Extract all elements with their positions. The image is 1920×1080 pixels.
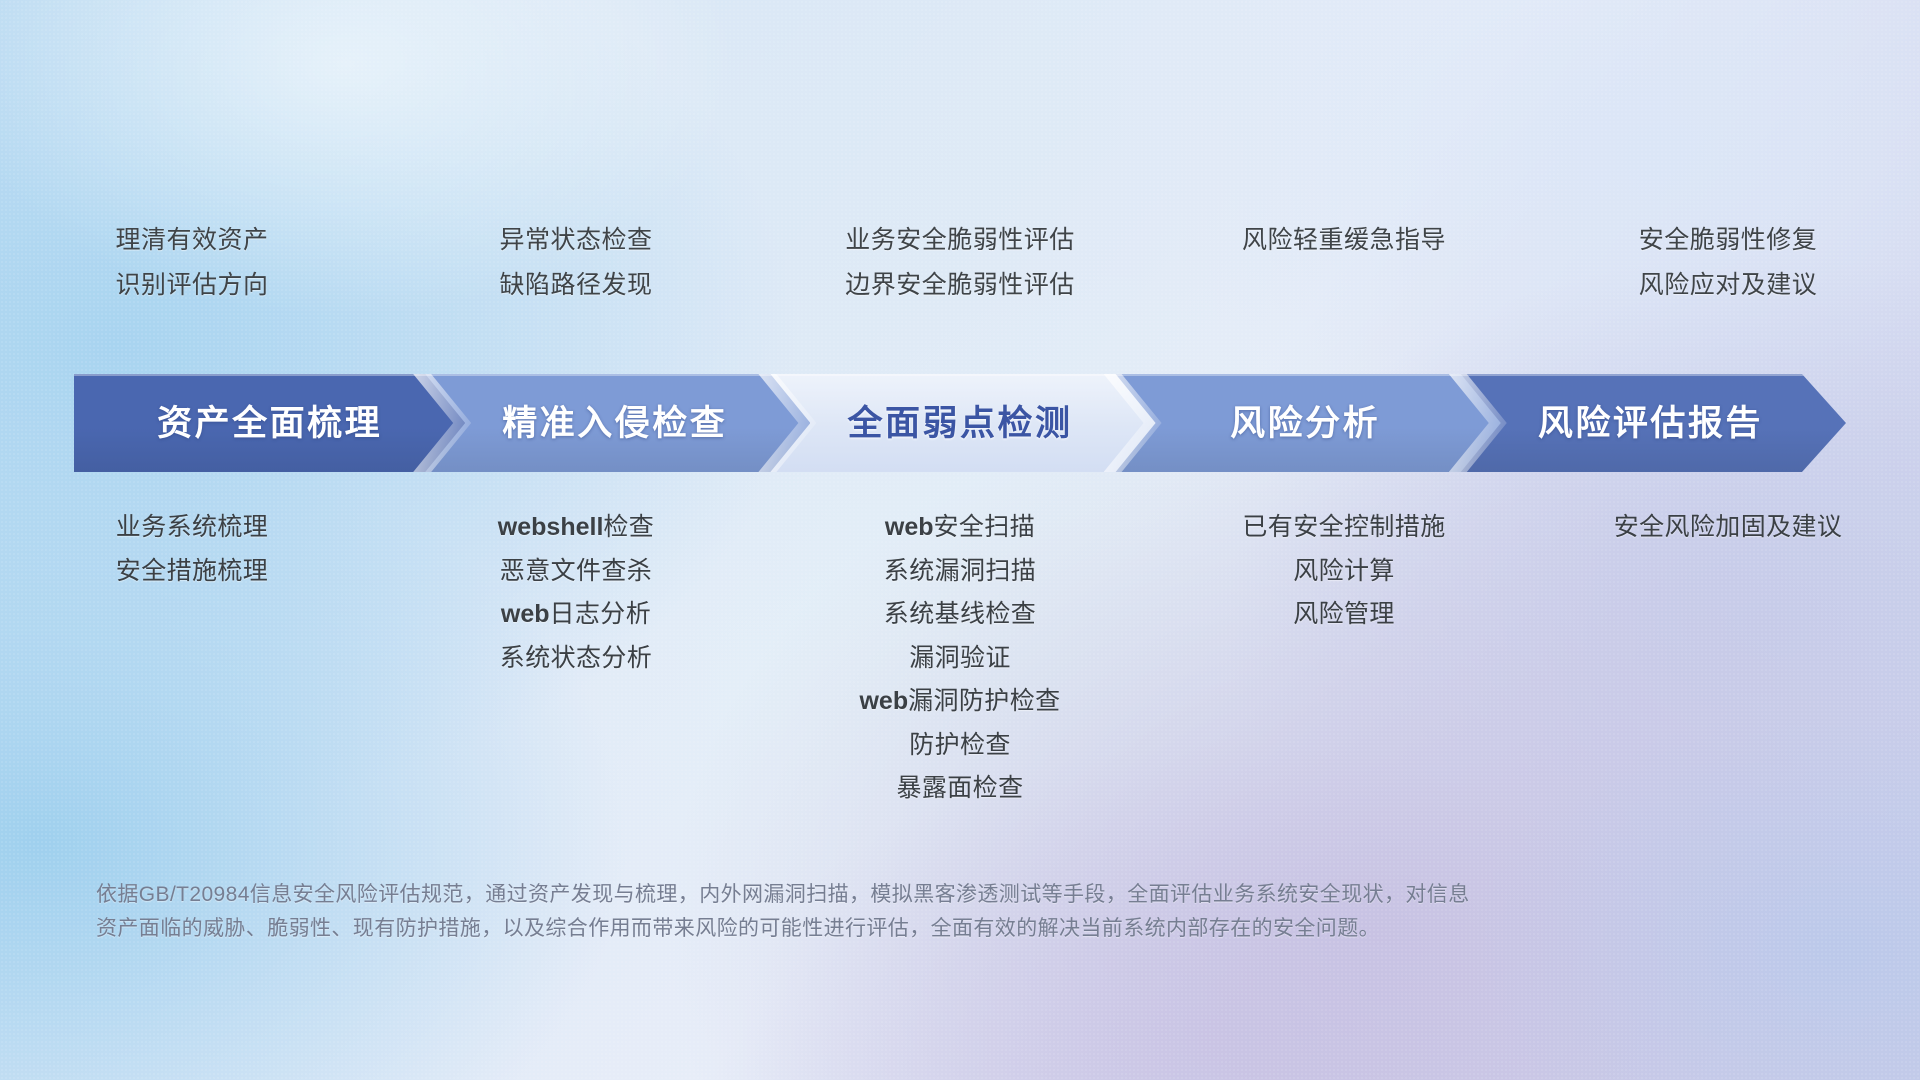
top-note-column-risk-report: 安全脆弱性修复风险应对及建议: [1536, 228, 1920, 298]
top-note: 异常状态检查: [499, 228, 652, 253]
bottom-note-text: 安全扫描: [934, 513, 1036, 541]
bottom-note: web日志分析: [501, 601, 651, 629]
bottom-note: 系统漏洞扫描: [884, 558, 1036, 586]
top-note: 缺陷路径发现: [499, 273, 652, 298]
top-note-column-risk-analysis: 风险轻重缓急指导: [1152, 228, 1536, 298]
bottom-note-latin: web: [885, 513, 934, 541]
bottom-note: 风险计算: [1293, 558, 1395, 586]
bottom-note-text: 风险管理: [1293, 600, 1395, 628]
top-note: 安全脆弱性修复: [1639, 228, 1818, 253]
top-note-column-intrusion-check: 异常状态检查缺陷路径发现: [384, 228, 768, 298]
chevron-label: 风险分析: [1230, 406, 1380, 441]
bottom-note: 防护检查: [909, 732, 1011, 760]
bottom-note-text: 检查: [603, 513, 654, 541]
bottom-note-text: 漏洞防护检查: [908, 687, 1060, 715]
bottom-note-column-weakness-detection: web安全扫描系统漏洞扫描系统基线检查漏洞验证web漏洞防护检查防护检查暴露面检…: [768, 514, 1152, 803]
bottom-note: 已有安全控制措施: [1242, 514, 1445, 542]
bottom-note-column-asset-inventory: 业务系统梳理安全措施梳理: [0, 514, 384, 585]
chevron-intrusion-check[interactable]: 精准入侵检查: [419, 374, 810, 472]
bottom-note-text: 日志分析: [550, 600, 652, 628]
bottom-note: web漏洞防护检查: [859, 688, 1060, 716]
bottom-note: 恶意文件查杀: [500, 558, 652, 586]
bottom-note-text: 系统状态分析: [500, 644, 652, 672]
bottom-note-text: 暴露面检查: [896, 774, 1023, 802]
bottom-note-column-risk-analysis: 已有安全控制措施风险计算风险管理: [1152, 514, 1536, 629]
footer-description: 依据GB/T20984信息安全风险评估规范，通过资产发现与梳理，内外网漏洞扫描，…: [96, 878, 1636, 946]
process-chevron-band: 资产全面梳理精准入侵检查全面弱点检测风险分析风险评估报告: [74, 374, 1846, 472]
chevron-asset-inventory[interactable]: 资产全面梳理: [74, 374, 465, 472]
bottom-note: 安全风险加固及建议: [1614, 514, 1843, 542]
top-note: 业务安全脆弱性评估: [845, 228, 1075, 253]
bottom-note-latin: web: [859, 687, 908, 715]
diagram-stage: 理清有效资产识别评估方向异常状态检查缺陷路径发现业务安全脆弱性评估边界安全脆弱性…: [0, 0, 1920, 1080]
chevron-label: 精准入侵检查: [502, 406, 727, 441]
bottom-note: 暴露面检查: [896, 775, 1023, 803]
chevron-label: 全面弱点检测: [847, 406, 1072, 441]
bottom-note-text: 已有安全控制措施: [1242, 513, 1445, 541]
footer-line-1: 依据GB/T20984信息安全风险评估规范，通过资产发现与梳理，内外网漏洞扫描，…: [96, 878, 1636, 912]
top-note: 理清有效资产: [115, 228, 268, 253]
bottom-note: web安全扫描: [885, 514, 1035, 542]
top-note: 边界安全脆弱性评估: [845, 273, 1075, 298]
top-note-column-asset-inventory: 理清有效资产识别评估方向: [0, 228, 384, 298]
chevron-weakness-detection[interactable]: 全面弱点检测: [764, 374, 1155, 472]
bottom-note-text: 漏洞验证: [909, 644, 1011, 672]
bottom-note: 系统基线检查: [884, 601, 1036, 629]
bottom-note-text: 系统基线检查: [884, 600, 1036, 628]
bottom-note-column-risk-report: 安全风险加固及建议: [1536, 514, 1920, 542]
bottom-note-text: 风险计算: [1293, 557, 1395, 585]
top-notes-row: 理清有效资产识别评估方向异常状态检查缺陷路径发现业务安全脆弱性评估边界安全脆弱性…: [0, 228, 1920, 298]
bottom-note-text: 安全风险加固及建议: [1614, 513, 1843, 541]
bottom-note-text: 安全措施梳理: [116, 557, 268, 585]
bottom-note: 系统状态分析: [500, 645, 652, 673]
bottom-note-latin: webshell: [498, 513, 604, 541]
chevron-label: 风险评估报告: [1538, 406, 1763, 441]
bottom-note-text: 业务系统梳理: [116, 513, 268, 541]
bottom-note-column-intrusion-check: webshell检查恶意文件查杀web日志分析系统状态分析: [384, 514, 768, 672]
chevron-risk-report[interactable]: 风险评估报告: [1455, 374, 1846, 472]
bottom-note: webshell检查: [498, 514, 654, 542]
top-note: 风险应对及建议: [1639, 273, 1818, 298]
top-note: 识别评估方向: [115, 273, 268, 298]
top-note: 风险轻重缓急指导: [1242, 228, 1446, 253]
bottom-note-text: 恶意文件查杀: [500, 557, 652, 585]
top-note-column-weakness-detection: 业务安全脆弱性评估边界安全脆弱性评估: [768, 228, 1152, 298]
bottom-note: 安全措施梳理: [116, 558, 268, 586]
footer-line-2: 资产面临的威胁、脆弱性、现有防护措施，以及综合作用而带来风险的可能性进行评估，全…: [96, 912, 1636, 946]
bottom-notes-row: 业务系统梳理安全措施梳理webshell检查恶意文件查杀web日志分析系统状态分…: [0, 514, 1920, 803]
chevron-label: 资产全面梳理: [157, 406, 382, 441]
bottom-note: 漏洞验证: [909, 645, 1011, 673]
bottom-note: 业务系统梳理: [116, 514, 268, 542]
chevron-risk-analysis[interactable]: 风险分析: [1110, 374, 1501, 472]
bottom-note-text: 系统漏洞扫描: [884, 557, 1036, 585]
bottom-note-latin: web: [501, 600, 550, 628]
bottom-note: 风险管理: [1293, 601, 1395, 629]
bottom-note-text: 防护检查: [909, 731, 1011, 759]
